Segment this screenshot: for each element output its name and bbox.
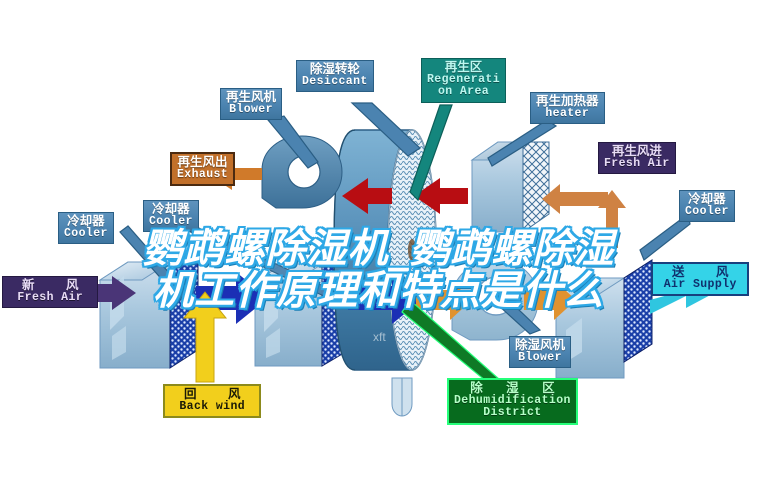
label-regeneration-blower[interactable]: 再生风机 Blower	[220, 88, 282, 120]
label-cooler-left-1-en: Cooler	[64, 228, 108, 240]
label-regeneration-area-en2: on Area	[427, 86, 500, 98]
label-desiccant-rotor[interactable]: 除湿转轮 Desiccant	[296, 60, 374, 92]
label-back-wind-cn: 回 风	[170, 388, 254, 401]
label-fresh-air-in-en: Fresh Air	[8, 292, 92, 304]
label-regeneration-fresh-air-en: Fresh Air	[604, 158, 670, 170]
label-dehumidification-blower-en: Blower	[515, 352, 565, 364]
label-regeneration-heater-en: heater	[536, 108, 599, 120]
label-cooler-left-2-en: Cooler	[149, 216, 193, 228]
label-back-wind[interactable]: 回 风 Back wind	[163, 384, 261, 418]
label-cooler-left-2[interactable]: 冷却器 Cooler	[143, 200, 199, 232]
label-regeneration-blower-en: Blower	[226, 104, 276, 116]
label-cooler-right-cn: 冷却器	[685, 193, 729, 206]
label-dehumidification-district[interactable]: 除 湿 区 Dehumidification District	[447, 378, 578, 425]
label-cooler-right-en: Cooler	[685, 206, 729, 218]
label-regeneration-area-cn: 再生区	[427, 61, 500, 74]
label-air-supply-cn: 送 风	[658, 266, 742, 279]
regeneration-heater	[472, 142, 549, 232]
label-fresh-air-in-cn: 新 风	[8, 279, 92, 292]
label-exhaust-cn: 再生风出	[177, 156, 228, 169]
label-regeneration-fresh-air-cn: 再生风进	[604, 145, 670, 158]
label-fresh-air-in[interactable]: 新 风 Fresh Air	[2, 276, 98, 308]
label-back-wind-en: Back wind	[170, 401, 254, 413]
label-cooler-right[interactable]: 冷却器 Cooler	[679, 190, 735, 222]
left-intake-housing	[100, 262, 170, 368]
label-dehumidification-blower[interactable]: 除湿风机 Blower	[509, 336, 571, 368]
label-regeneration-heater-cn: 再生加热器	[536, 95, 599, 108]
label-dehumidification-district-cn: 除 湿 区	[454, 382, 571, 395]
label-air-supply[interactable]: 送 风 Air Supply	[651, 262, 749, 296]
arrow-regen-fresh-1	[542, 184, 608, 214]
label-cooler-left-1[interactable]: 冷却器 Cooler	[58, 212, 114, 244]
diagram-canvas: 除湿转轮 Desiccant 再生风机 Blower 再生区 Regenerat…	[0, 0, 757, 488]
label-exhaust[interactable]: 再生风出 Exhaust	[170, 152, 235, 186]
label-desiccant-rotor-en: Desiccant	[302, 76, 368, 88]
label-regeneration-heater[interactable]: 再生加热器 heater	[530, 92, 605, 124]
label-air-supply-en: Air Supply	[658, 279, 742, 291]
label-cooler-left-2-cn: 冷却器	[149, 203, 193, 216]
cooler-coil-right	[624, 260, 652, 362]
desiccant-rotor	[334, 109, 436, 416]
label-dehumidification-blower-cn: 除湿风机	[515, 339, 565, 352]
label-regeneration-fresh-air[interactable]: 再生风进 Fresh Air	[598, 142, 676, 174]
label-regeneration-area[interactable]: 再生区 Regenerati on Area	[421, 58, 506, 103]
label-regeneration-blower-cn: 再生风机	[226, 91, 276, 104]
label-exhaust-en: Exhaust	[177, 169, 228, 181]
label-cooler-left-1-cn: 冷却器	[64, 215, 108, 228]
label-dehumidification-district-en2: District	[454, 407, 571, 419]
label-desiccant-rotor-cn: 除湿转轮	[302, 63, 368, 76]
